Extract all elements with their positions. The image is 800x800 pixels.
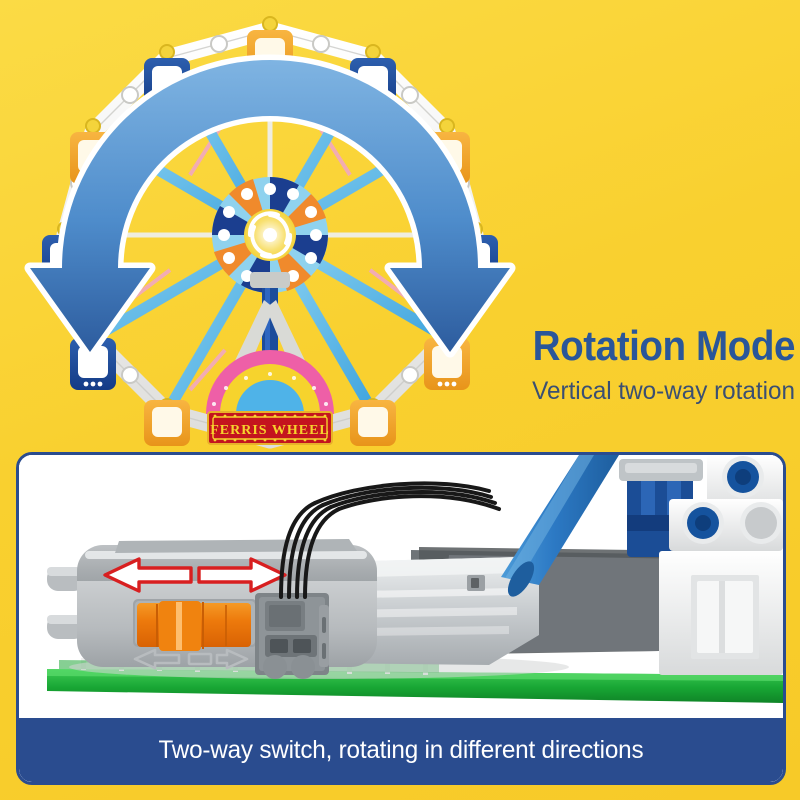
wheel-arch-decoration [206, 350, 334, 414]
caption-bar: Two-way switch, rotating in different di… [19, 718, 783, 782]
switch-demo-panel: Two-way switch, rotating in different di… [16, 452, 786, 785]
ferris-wheel-svg: FERRIS WHEEL [10, 0, 530, 452]
page-subtitle: Vertical two-way rotation [509, 377, 795, 406]
ferris-wheel-sign-text: FERRIS WHEEL [210, 423, 330, 438]
ferris-wheel-sign: FERRIS WHEEL [208, 412, 332, 444]
rotation-mode-text-block: Rotation Mode Vertical two-way rotation [500, 325, 795, 406]
power-connector [255, 593, 329, 679]
two-way-slider-switch[interactable] [137, 601, 251, 651]
page-title: Rotation Mode [524, 325, 795, 367]
rotation-mode-section: FERRIS WHEEL Rotation Mode Vertical two-… [0, 0, 800, 452]
gondola-cabin [144, 399, 190, 446]
battery-box-photo [19, 455, 783, 721]
caption-text: Two-way switch, rotating in different di… [159, 736, 644, 765]
ferris-wheel-illustration: FERRIS WHEEL [10, 0, 530, 452]
product-marketing-image: FERRIS WHEEL Rotation Mode Vertical two-… [0, 0, 800, 800]
gondola-cabin [350, 399, 396, 446]
battery-box-photo-svg [19, 455, 783, 721]
